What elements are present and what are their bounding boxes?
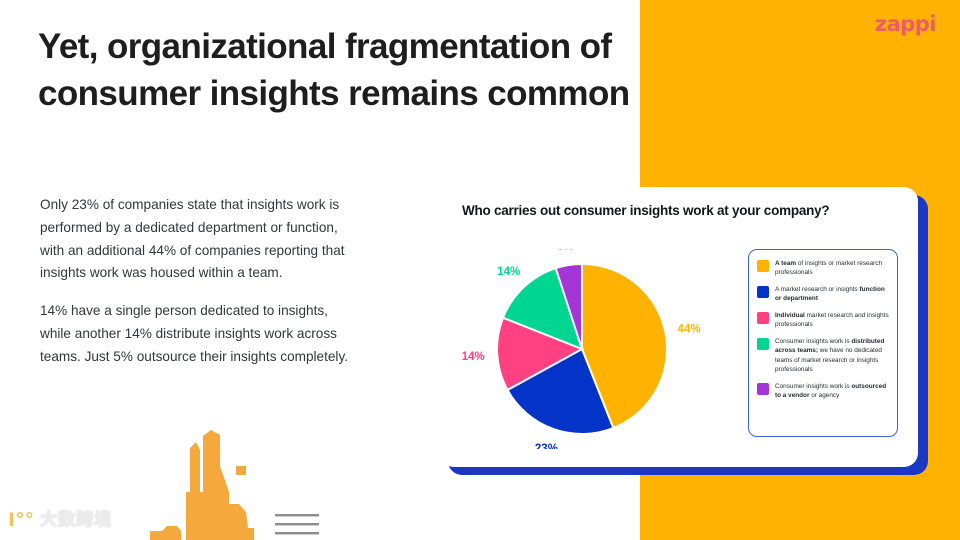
pie-chart: 44%23%14%14%5% [457,249,747,449]
pie-slices [497,264,667,434]
pie-value-label: 44% [678,324,701,336]
legend-swatch-icon [757,260,769,272]
pie-value-label: 14% [497,266,520,278]
body-paragraph-2: 14% have a single person dedicated to in… [40,300,350,368]
page-title: Yet, organizational fragmentation of con… [38,24,638,117]
legend-item: Consumer insights work is outsourced to … [757,382,889,401]
legend-swatch-icon [757,286,769,298]
legend-item: A team of insights or market research pr… [757,259,889,278]
pie-value-label: 14% [462,351,485,363]
legend-item-label: Consumer insights work is distributed ac… [775,337,889,375]
legend-item: Consumer insights work is distributed ac… [757,337,889,375]
watermark: Ⅰ°° 大数跨境 [8,511,112,530]
legend-swatch-icon [757,312,769,324]
watermark-logo-icon: Ⅰ°° [8,511,34,530]
legend-swatch-icon [757,383,769,395]
zappi-logo: zappi [875,14,936,35]
legend-item-label: A market research or insights function o… [775,285,889,304]
pie-value-label: 5% [557,249,574,252]
slide-canvas: zappi Yet, organizational fragmentation … [0,0,960,540]
body-copy: Only 23% of companies state that insight… [40,194,350,369]
legend-swatch-icon [757,338,769,350]
chart-legend: A team of insights or market research pr… [748,249,898,437]
legend-item-label: Individual market research and insights … [775,311,889,330]
chart-card: Who carries out consumer insights work a… [440,187,918,467]
legend-item-label: Consumer insights work is outsourced to … [775,382,889,401]
legend-item-label: A team of insights or market research pr… [775,259,889,278]
pie-value-label: 23% [535,443,558,449]
legend-item: Individual market research and insights … [757,311,889,330]
watermark-label: 大数跨境 [40,512,112,529]
body-paragraph-1: Only 23% of companies state that insight… [40,194,350,285]
pie-chart-svg: 44%23%14%14%5% [457,249,747,449]
chart-title: Who carries out consumer insights work a… [462,203,829,218]
decorative-silhouette-graphic [150,430,320,540]
legend-item: A market research or insights function o… [757,285,889,304]
